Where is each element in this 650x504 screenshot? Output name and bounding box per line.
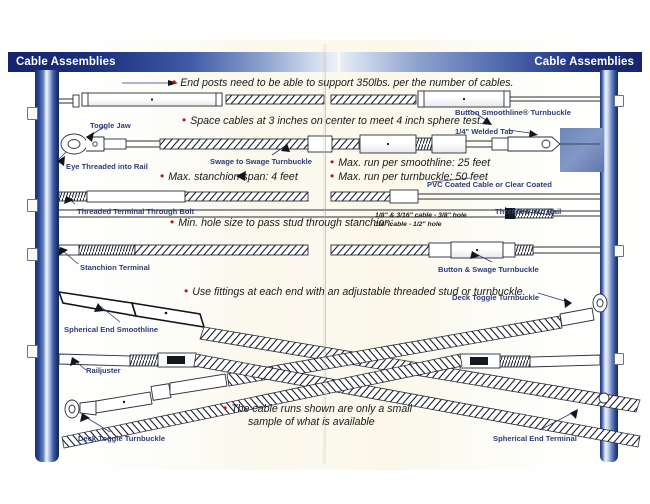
callout-threaded-into-rail: Threaded into Rail [495, 207, 561, 216]
callout-button-swage-turnbuckle: Button & Swage Turnbuckle [438, 265, 539, 274]
catalog-page: Cable Assemblies Cable Assemblies [0, 0, 650, 504]
callout-welded-tab: 1/4" Welded Tab [455, 127, 513, 136]
bullet-end-posts: End posts need to be able to support 350… [172, 75, 514, 89]
callout-deck-toggle-turnbuckle-left: Deck Toggle Turnbuckle [78, 434, 165, 443]
bullet-max-stanchion-span: Max. stanchion span: 4 feet [160, 169, 298, 183]
bullet-sample-line-2: sample of what is available [248, 414, 375, 428]
cable-run-row1 [59, 91, 600, 107]
spec-hole-large: 1/4" cable - 1/2" hole [375, 221, 442, 228]
bullet-space-cables: Space cables at 3 inches on center to me… [182, 113, 483, 127]
callout-railjuster: Railjuster [86, 366, 121, 375]
spec-hole-small: 1/8" & 3/16" cable - 3/8" hole [375, 212, 467, 219]
callout-spherical-end-smoothline: Spherical End Smoothline [64, 325, 158, 334]
callout-deck-toggle-turnbuckle-right: Deck Toggle Turnbuckle [452, 293, 539, 302]
callout-spherical-end-terminal: Spherical End Terminal [493, 434, 577, 443]
callout-button-smoothline-turnbuckle: Button Smoothline® Turnbuckle [455, 108, 571, 117]
bullet-min-hole-size: Min. hole size to pass stud through stan… [170, 215, 393, 229]
cable-run-row4 [59, 242, 600, 258]
callout-swage-to-swage-turnbuckle: Swage to Swage Turnbuckle [210, 157, 312, 166]
callout-stanchion-terminal: Stanchion Terminal [80, 263, 150, 272]
callout-eye-threaded-into-rail: Eye Threaded into Rail [66, 162, 148, 171]
callout-toggle-jaw: Toggle Jaw [90, 121, 131, 130]
cable-run-row3 [59, 190, 600, 203]
callout-threaded-terminal-through-bolt: Threaded Terminal Through Bolt [77, 207, 194, 216]
bullet-max-run-smoothline: Max. run per smoothline: 25 feet [330, 155, 490, 169]
cable-run-row2 [61, 134, 600, 154]
bullet-sample-line-1: The cable runs shown are only a small [223, 401, 412, 415]
callout-pvc-coated-cable: PVC Coated Cable or Clear Coated [427, 180, 552, 189]
